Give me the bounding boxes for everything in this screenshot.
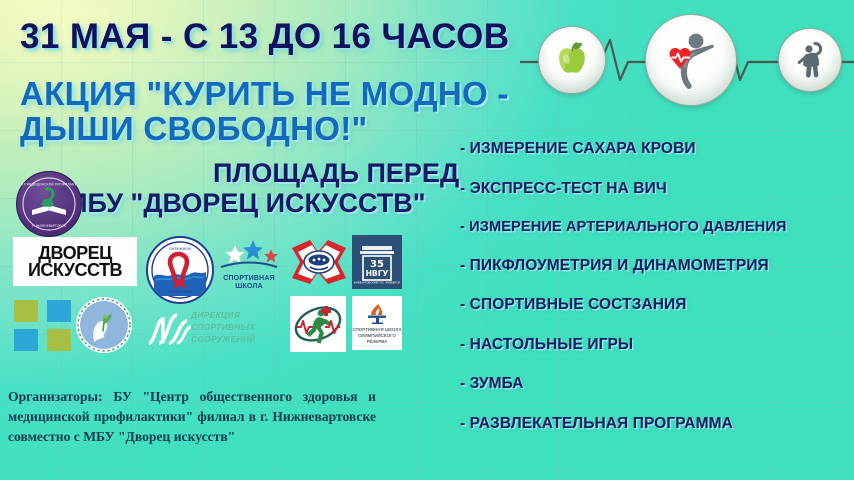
logo-dvorets-line1: ДВОРЕЦ <box>38 245 112 262</box>
headline-date: 31 МАЯ - С 13 ДО 16 ЧАСОВ <box>20 17 509 57</box>
activity-item: - ИЗМЕРЕНИЕ АРТЕРИАЛЬНОГО ДАВЛЕНИЯ <box>460 219 852 235</box>
aids-ribbon-icon: ОКРУЖНОЙ ЦЕНТР СПИД <box>150 240 210 300</box>
logo-runner-emblem <box>290 296 346 352</box>
square-cyan-2 <box>14 329 38 351</box>
olymp-line1: СПОРТИВНАЯ ШКОЛА <box>353 327 402 332</box>
square-olive-1 <box>14 300 38 322</box>
logo-direkcia-sportivnyh-sooruzhenij: ДИРЕКЦИЯ СПОРТИВНЫХ СООРУЖЕНИЙ <box>145 305 290 353</box>
sport-school-line1: СПОРТИВНАЯ <box>223 275 275 282</box>
svg-text:ЦЕНТР МЕДИЦИНСКОЙ ПРОФИЛАКТИКИ: ЦЕНТР МЕДИЦИНСКОЙ ПРОФИЛАКТИКИ <box>22 181 76 186</box>
stretching-person-icon <box>789 39 831 81</box>
activity-item: - ЭКСПРЕСС-ТЕСТ НА ВИЧ <box>460 180 852 198</box>
logo-hand-sprout <box>76 297 132 353</box>
activity-item: - ПИКФЛОУМЕТРИЯ И ДИНАМОМЕТРИЯ <box>460 257 852 275</box>
direkcia-line2: СПОРТИВНЫХ <box>191 322 255 332</box>
logo-direkcia-text: ДИРЕКЦИЯ СПОРТИВНЫХ СООРУЖЕНИЙ <box>191 309 255 345</box>
headline-place-line2: МБУ "ДВОРЕЦ ИСКУССТВ" <box>65 188 426 219</box>
headline-action-line2: ДЫШИ СВОБОДНО!" <box>20 110 367 148</box>
bowl-of-hygieia-book-icon: ЦЕНТР МЕДИЦИНСКОЙ ПРОФИЛАКТИКИ Г. НИЖНЕВ… <box>22 177 76 231</box>
olympic-flame-icon <box>360 302 394 324</box>
activity-item: - НАСТОЛЬНЫЕ ИГРЫ <box>460 336 852 354</box>
heart-person-icon <box>657 26 725 94</box>
apple-icon <box>549 37 595 83</box>
poster-canvas: 31 МАЯ - С 13 ДО 16 ЧАСОВ АКЦИЯ "КУРИТЬ … <box>0 0 854 480</box>
logo-sport-school-text: СПОРТИВНАЯ ШКОЛА <box>213 275 285 291</box>
logo-dvorets-line2: ИСКУССТВ <box>28 262 122 279</box>
square-cyan-1 <box>47 300 71 322</box>
svg-text:Г. НИЖНЕВАРТОВСК: Г. НИЖНЕВАРТОВСК <box>32 224 67 228</box>
red-ribbon-badge-icon <box>288 234 350 290</box>
svg-text:ЦЕНТР СПИД: ЦЕНТР СПИД <box>168 290 192 294</box>
logo-olympic-school-text: СПОРТИВНАЯ ШКОЛА ОЛИМПИЙСКОГО РЕЗЕРВА <box>352 327 402 345</box>
logo-sport-school: СПОРТИВНАЯ ШКОЛА <box>213 237 285 293</box>
headline-action-line1: АКЦИЯ "КУРИТЬ НЕ МОДНО - <box>20 75 509 113</box>
activity-item: - СПОРТИВНЫЕ СОСТЗАНИЯ <box>460 296 852 314</box>
sport-school-line2: ШКОЛА <box>235 283 263 290</box>
olymp-line2: ОЛИМПИЙСКОГО РЕЗЕРВА <box>358 333 396 344</box>
logo-olympic-school: СПОРТИВНАЯ ШКОЛА ОЛИМПИЙСКОГО РЕЗЕРВА <box>352 296 402 350</box>
activity-item: - РАЗВЛЕКАТЕЛЬНАЯ ПРОГРАММА <box>460 415 852 433</box>
direkcia-line3: СООРУЖЕНИЙ <box>191 334 255 344</box>
running-man-medical-icon <box>291 297 345 351</box>
activities-list: - ИЗМЕРЕНИЕ САХАРА КРОВИ - ЭКСПРЕСС-ТЕСТ… <box>460 140 852 454</box>
waves-monogram-icon <box>145 309 193 351</box>
direkcia-line1: ДИРЕКЦИЯ <box>191 310 240 320</box>
nvgu-emblem-icon: 35 НВГУ НИЖНЕВАРТОВСКИЙ ГОС. УНИВЕРСИТЕТ <box>354 238 400 286</box>
hand-holding-sprout-icon <box>76 297 132 353</box>
activity-item: - ЗУМБА <box>460 375 852 393</box>
svg-text:ОКРУЖНОЙ: ОКРУЖНОЙ <box>169 246 191 251</box>
headline-place-line1: ПЛОЩАДЬ ПЕРЕД <box>213 158 459 189</box>
stretching-person-badge <box>778 28 842 92</box>
logo-four-squares <box>14 300 72 352</box>
activity-item: - ИЗМЕРЕНИЕ САХАРА КРОВИ <box>460 140 852 158</box>
logo-aids-center: ОКРУЖНОЙ ЦЕНТР СПИД <box>146 236 214 304</box>
svg-text:НВГУ: НВГУ <box>366 269 389 278</box>
square-olive-2 <box>47 329 71 351</box>
organizers-text: Организаторы: БУ "Центр общественного зд… <box>8 387 376 447</box>
apple-badge <box>538 26 606 94</box>
logo-pharmacy-emblem: ЦЕНТР МЕДИЦИНСКОЙ ПРОФИЛАКТИКИ Г. НИЖНЕВ… <box>16 171 82 237</box>
logo-ribbon-emblem <box>288 234 350 290</box>
health-badges-group <box>520 6 854 118</box>
heart-person-badge <box>645 14 737 106</box>
logo-dvorets-iskusstv: ДВОРЕЦ ИСКУССТВ <box>13 237 137 286</box>
logo-nvgu: 35 НВГУ НИЖНЕВАРТОВСКИЙ ГОС. УНИВЕРСИТЕТ <box>352 235 402 289</box>
